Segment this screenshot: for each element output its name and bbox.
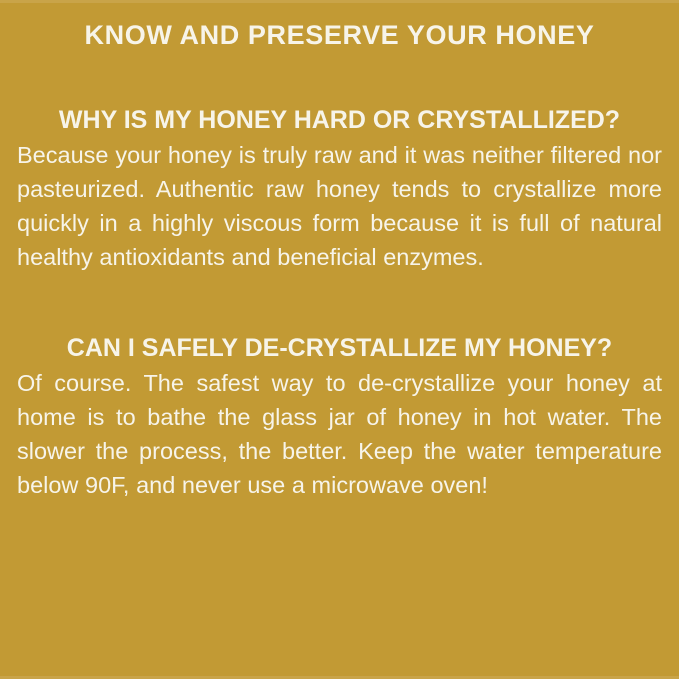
page-title: KNOW AND PRESERVE YOUR HONEY [17, 0, 662, 52]
faq-item-1: WHY IS MY HONEY HARD OR CRYSTALLIZED? Be… [17, 104, 662, 274]
faq-item-2: CAN I SAFELY DE-CRYSTALLIZE MY HONEY? Of… [17, 332, 662, 502]
honey-info-card: KNOW AND PRESERVE YOUR HONEY WHY IS MY H… [0, 0, 679, 679]
card-content: KNOW AND PRESERVE YOUR HONEY WHY IS MY H… [0, 0, 679, 502]
faq-question-2: CAN I SAFELY DE-CRYSTALLIZE MY HONEY? [17, 332, 662, 364]
faq-answer-1: Because your honey is truly raw and it w… [17, 138, 662, 274]
faq-question-1: WHY IS MY HONEY HARD OR CRYSTALLIZED? [17, 104, 662, 136]
faq-answer-2: Of course. The safest way to de-crystall… [17, 366, 662, 502]
